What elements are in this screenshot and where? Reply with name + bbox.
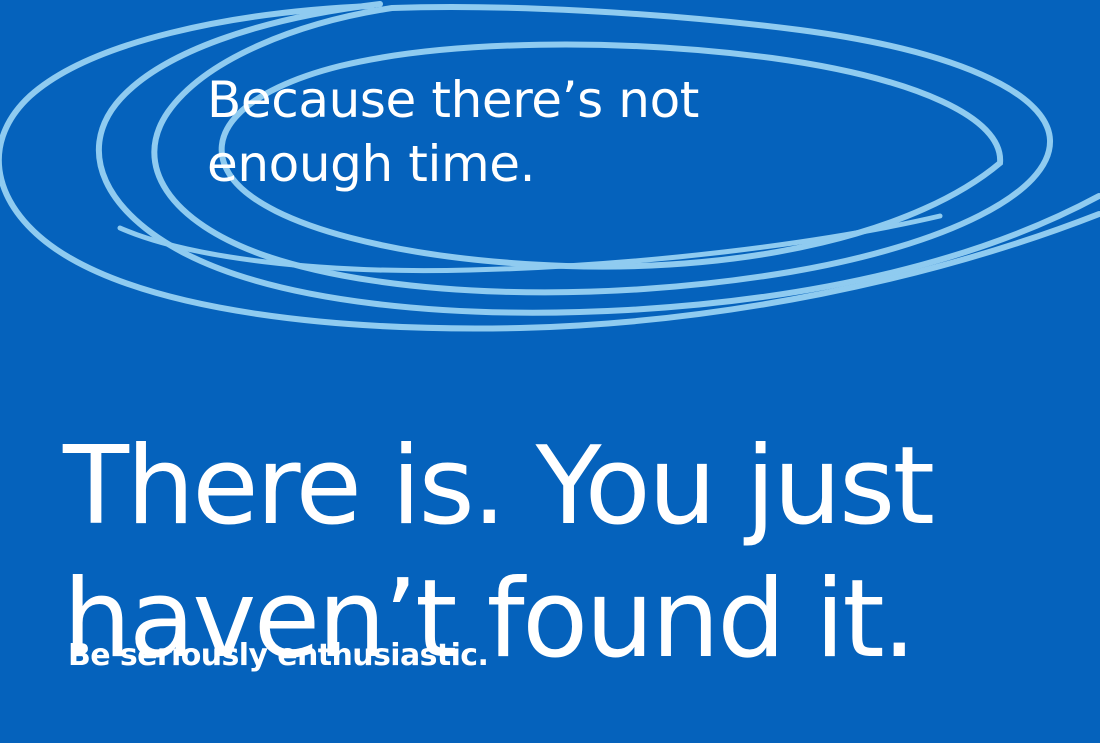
tagline-text: Be seriously enthusiastic.: [68, 637, 488, 675]
subhead-text: Because there’s not enough time.: [207, 68, 807, 196]
poster-canvas: Because there’s not enough time. There i…: [0, 0, 1100, 743]
poster-text-layer: Because there’s not enough time. There i…: [0, 0, 1100, 743]
